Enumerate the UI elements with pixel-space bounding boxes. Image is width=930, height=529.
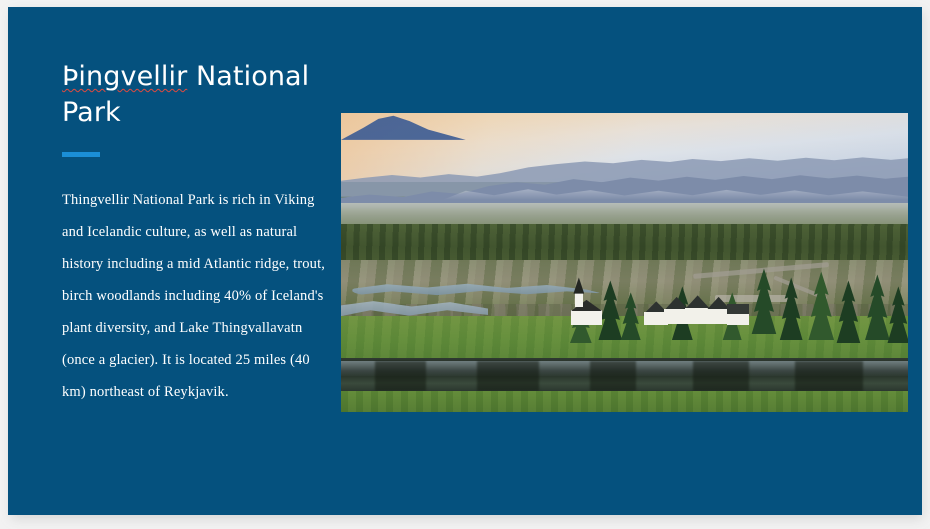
farmhouse-annex-roof — [727, 304, 750, 314]
hero-card: Þingvellir National Park Thingvellir Nat… — [8, 7, 922, 515]
landscape-photo — [341, 113, 908, 412]
farmhouse-annex-wall — [727, 314, 750, 326]
water-reflection — [477, 361, 539, 391]
farmhouse-annex — [727, 304, 750, 325]
foreground-grass — [341, 391, 908, 412]
water-reflection — [590, 361, 635, 391]
photo-canvas — [341, 113, 908, 412]
hero-body-text: Thingvellir National Park is rich in Vik… — [62, 184, 330, 408]
title-spellcheck-word: Þingvellir — [62, 61, 187, 92]
water-reflection — [795, 361, 863, 391]
church-building — [571, 310, 603, 325]
accent-divider — [62, 152, 100, 157]
water-reflection — [693, 361, 750, 391]
page-title: Þingvellir National Park — [62, 59, 332, 131]
hero-text-column: Þingvellir National Park Thingvellir Nat… — [54, 59, 332, 408]
church-tower — [575, 292, 584, 307]
water-reflection — [375, 361, 426, 391]
page-root: Þingvellir National Park Thingvellir Nat… — [0, 0, 930, 529]
